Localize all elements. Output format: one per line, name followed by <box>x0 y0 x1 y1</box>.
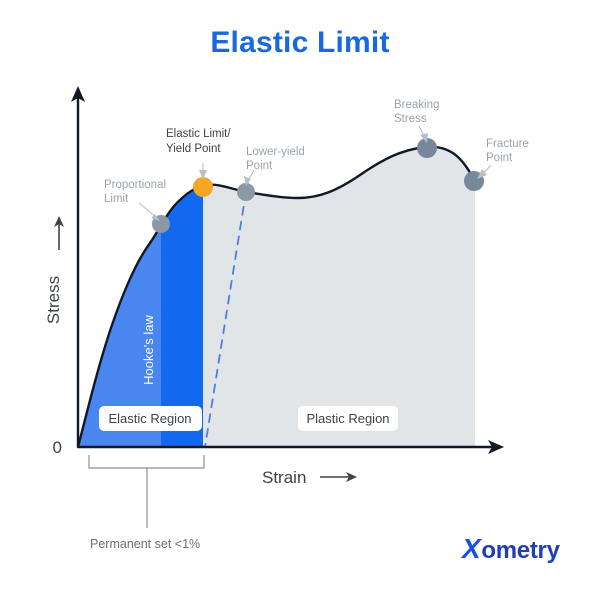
xometry-logo-x: X <box>462 533 480 565</box>
leader-proportional-limit <box>139 203 160 221</box>
label-permanent-set: Permanent set <1% <box>90 537 200 551</box>
label-breaking-stress-line1: Breaking <box>394 99 439 111</box>
xometry-logo[interactable]: X ometry <box>462 533 560 565</box>
y-axis-label-group: Stress <box>44 216 64 324</box>
y-axis-label: Stress <box>44 276 63 324</box>
stress-strain-chart: Stress Strain 0 <box>0 0 600 600</box>
label-elastic-limit-line1: Elastic Limit/ <box>166 128 231 140</box>
leader-fracture-point <box>477 165 491 179</box>
x-axis-label: Strain <box>262 468 306 487</box>
label-fracture-point-line1: Fracture <box>486 138 529 150</box>
label-elastic-limit-line2: Yield Point <box>166 143 221 155</box>
label-fracture-point-line2: Point <box>486 152 513 164</box>
permanent-set-bracket <box>89 455 204 528</box>
diagram-canvas: Elastic Limit Stress Strain <box>0 0 600 600</box>
x-axis-label-group: Strain <box>262 468 357 487</box>
elastic-region-badge: Elastic Region <box>99 406 202 431</box>
label-proportional-limit-line2: Limit <box>104 193 129 205</box>
plastic-region-badge: Plastic Region <box>298 406 398 431</box>
label-hookes-law: Hooke's law <box>141 315 156 385</box>
label-proportional-limit-line1: Proportional <box>104 179 166 191</box>
plastic-region-label: Plastic Region <box>306 411 389 426</box>
label-lower-yield-line2: Point <box>246 160 273 172</box>
label-breaking-stress-line2: Stress <box>394 113 427 125</box>
xometry-logo-text: ometry <box>481 537 559 565</box>
label-lower-yield-line1: Lower-yield <box>246 146 305 158</box>
elastic-region-label: Elastic Region <box>108 411 191 426</box>
origin-label: 0 <box>53 438 62 457</box>
